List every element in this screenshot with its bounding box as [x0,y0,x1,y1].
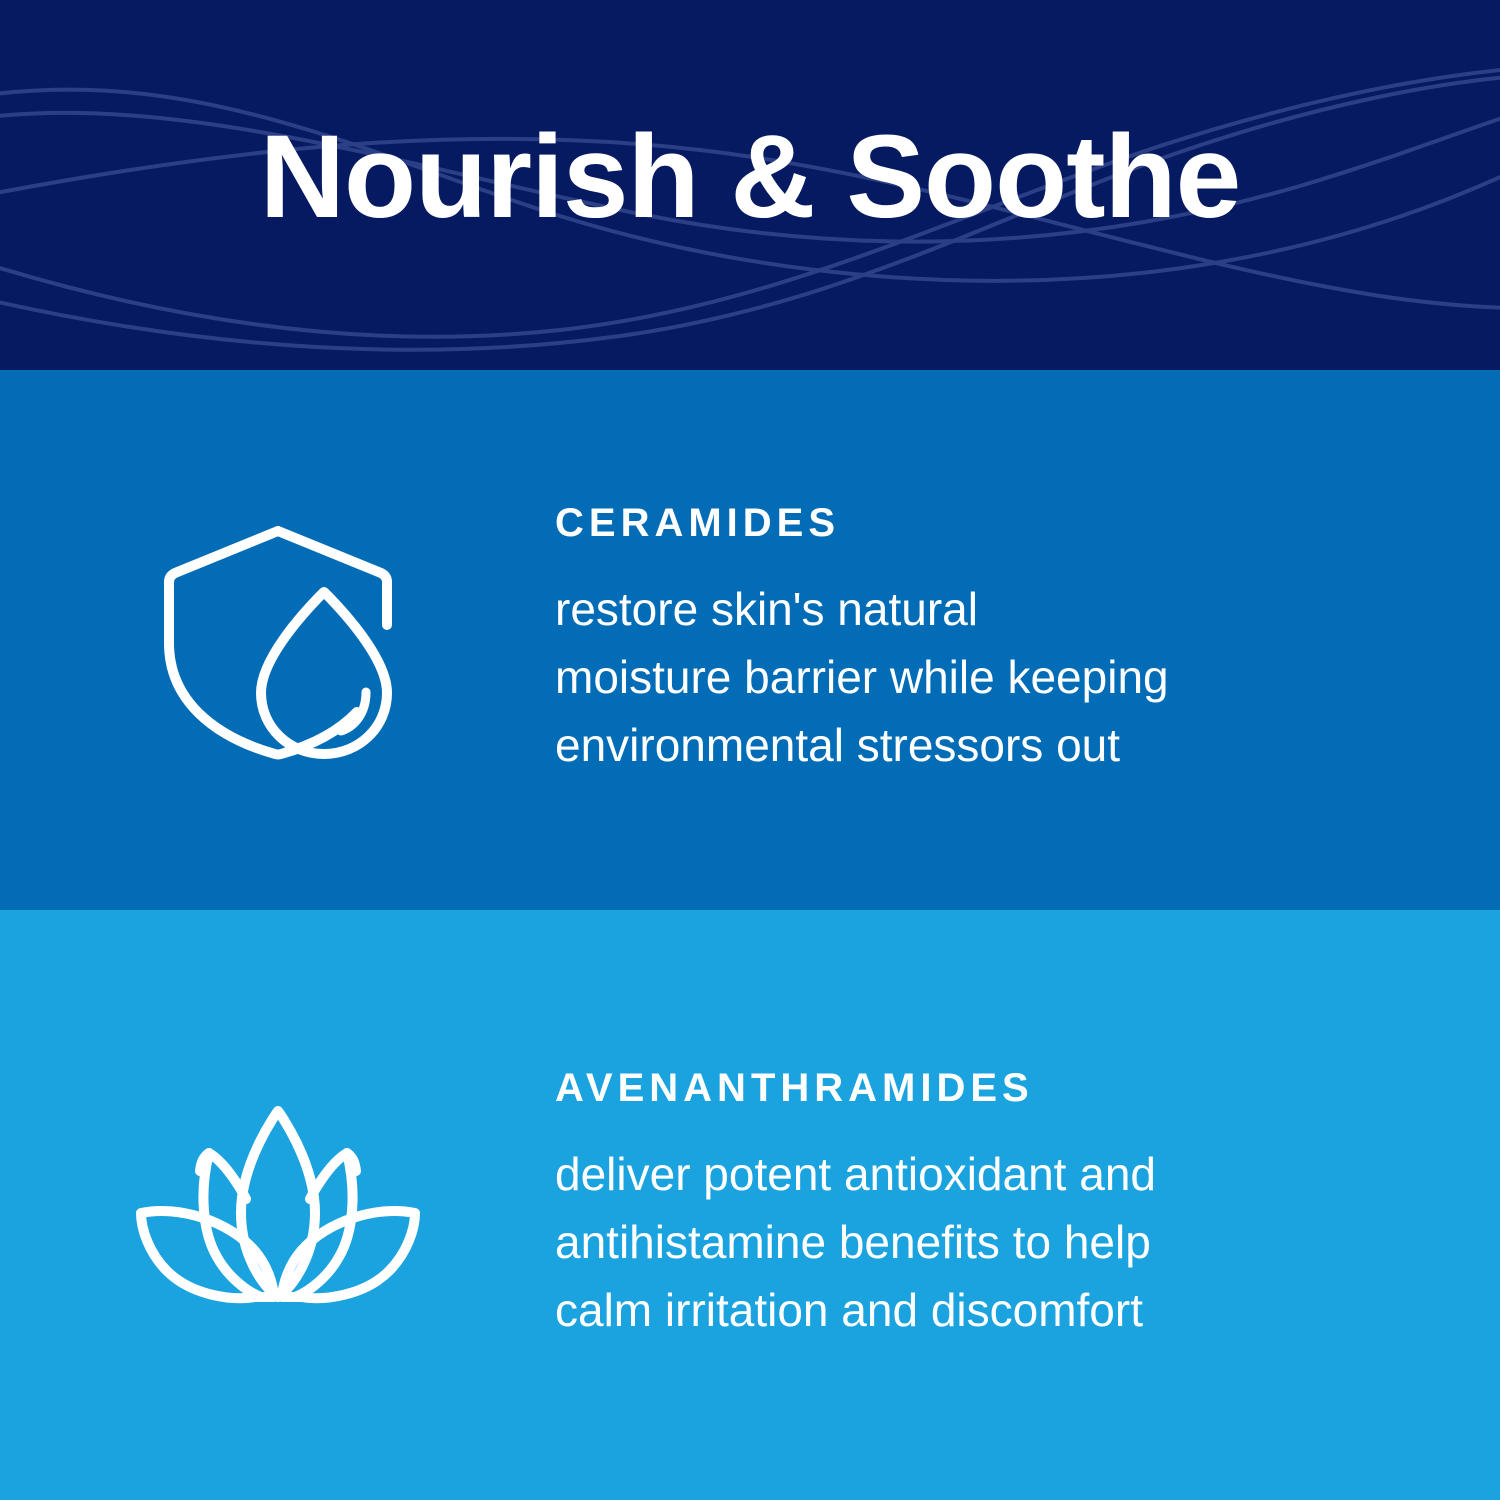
ceramides-body-line: environmental stressors out [555,711,1345,779]
avenanthramides-icon-container [0,1105,555,1305]
product-benefits-infographic: Nourish & Soothe CERAMIDES restore skin'… [0,0,1500,1500]
ceramides-title: CERAMIDES [555,501,1360,545]
ceramides-body-line: restore skin's natural [555,575,1345,643]
avenanthramides-body-line: calm irritation and discomfort [555,1276,1345,1344]
avenanthramides-title: AVENANTHRAMIDES [555,1066,1360,1110]
avenanthramides-body: deliver potent antioxidant and antihista… [555,1140,1345,1344]
ceramides-body: restore skin's natural moisture barrier … [555,575,1345,779]
ceramides-text-container: CERAMIDES restore skin's natural moistur… [555,501,1500,779]
ceramides-body-line: moisture barrier while keeping [555,643,1345,711]
header-banner: Nourish & Soothe [0,0,1500,370]
avenanthramides-text-container: AVENANTHRAMIDES deliver potent antioxida… [555,1066,1500,1344]
page-title: Nourish & Soothe [0,118,1500,236]
section-ceramides: CERAMIDES restore skin's natural moistur… [0,370,1500,910]
ceramides-icon-container [0,515,555,765]
section-avenanthramides: AVENANTHRAMIDES deliver potent antioxida… [0,910,1500,1500]
avenanthramides-body-line: antihistamine benefits to help [555,1208,1345,1276]
shield-droplet-icon [153,515,403,765]
lotus-flower-icon [133,1105,423,1305]
avenanthramides-body-line: deliver potent antioxidant and [555,1140,1345,1208]
